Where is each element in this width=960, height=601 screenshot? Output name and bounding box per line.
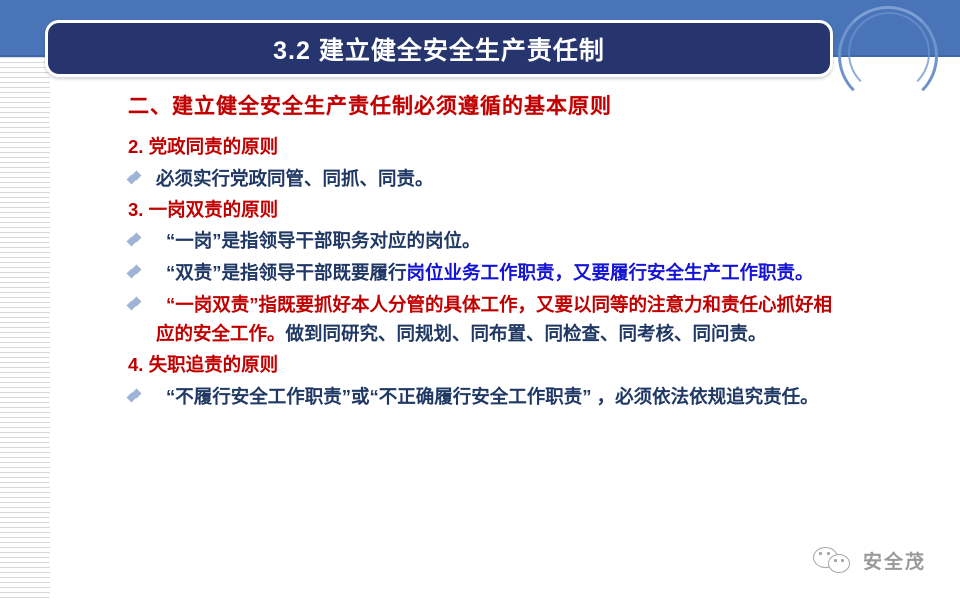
wechat-dot xyxy=(834,559,837,562)
list-item-text: 必须实行党政同管、同抓、同责。 xyxy=(156,165,842,194)
text-run: 做到同研究、同规划、同布置、同检查、同考核、同问责。 xyxy=(286,323,767,344)
text-run: “一岗”是指领导干部职务对应的岗位。 xyxy=(166,230,481,251)
list-item: 必须实行党政同管、同抓、同责。 xyxy=(0,165,960,194)
page-title: 3.2 建立健全安全生产责任制 xyxy=(273,31,605,67)
content-block: 2. 党政同责的原则 必须实行党政同管、同抓、同责。 xyxy=(0,134,960,194)
block-heading: 3. 一岗双责的原则 xyxy=(128,197,960,224)
wechat-icon xyxy=(813,545,853,575)
text-run: “不履行安全工作职责”或“不正确履行安全工作职责” ，必须依法依规追究责任。 xyxy=(166,386,819,407)
wechat-dot xyxy=(841,559,844,562)
list-item: “不履行安全工作职责”或“不正确履行安全工作职责” ，必须依法依规追究责任。 xyxy=(0,383,960,412)
text-run: “双责”是指领导干部既要履行 xyxy=(166,262,407,283)
block-heading: 2. 党政同责的原则 xyxy=(128,134,960,161)
list-item: “一岗双责”指既要抓好本人分管的具体工作，又要以同等的注意力和责任心抓好相应的安… xyxy=(0,291,960,349)
list-item-text: “不履行安全工作职责”或“不正确履行安全工作职责” ，必须依法依规追究责任。 xyxy=(156,383,842,412)
list-item: “双责”是指领导干部既要履行岗位业务工作职责，又要履行安全生产工作职责。 xyxy=(0,259,960,288)
diamond-bullet-icon xyxy=(128,266,142,280)
diamond-bullet-icon xyxy=(128,172,142,186)
slide-content: 二、建立健全安全生产责任制必须遵循的基本原则 2. 党政同责的原则 必须实行党政… xyxy=(0,90,960,415)
list-item-text: “一岗”是指领导干部职务对应的岗位。 xyxy=(156,227,842,256)
slide-title-plaque: 3.2 建立健全安全生产责任制 xyxy=(45,20,833,77)
text-run: 必须实行党政同管、同抓、同责。 xyxy=(156,168,434,189)
section-heading: 二、建立健全安全生产责任制必须遵循的基本原则 xyxy=(128,90,960,120)
text-run-highlight: 岗位业务工作职责，又要履行安全生产工作职责。 xyxy=(407,262,814,283)
diamond-bullet-icon xyxy=(128,390,142,404)
content-block: 3. 一岗双责的原则 “一岗”是指领导干部职务对应的岗位。 “双责”是指领导干部… xyxy=(0,197,960,349)
watermark: 安全茂 xyxy=(813,545,926,575)
wechat-dot xyxy=(819,552,822,555)
diamond-bullet-icon xyxy=(128,234,142,248)
wechat-bubble-small xyxy=(828,554,850,573)
watermark-label: 安全茂 xyxy=(863,547,926,574)
list-item-text: “双责”是指领导干部既要履行岗位业务工作职责，又要履行安全生产工作职责。 xyxy=(156,259,842,288)
wechat-dot xyxy=(827,552,830,555)
list-item-text: “一岗双责”指既要抓好本人分管的具体工作，又要以同等的注意力和责任心抓好相应的安… xyxy=(156,291,842,349)
diamond-bullet-icon xyxy=(128,298,142,312)
content-block: 4. 失职追责的原则 “不履行安全工作职责”或“不正确履行安全工作职责” ，必须… xyxy=(0,352,960,412)
list-item: “一岗”是指领导干部职务对应的岗位。 xyxy=(0,227,960,256)
slide-canvas: 3.2 建立健全安全生产责任制 二、建立健全安全生产责任制必须遵循的基本原则 2… xyxy=(0,0,960,601)
block-heading: 4. 失职追责的原则 xyxy=(128,352,960,379)
